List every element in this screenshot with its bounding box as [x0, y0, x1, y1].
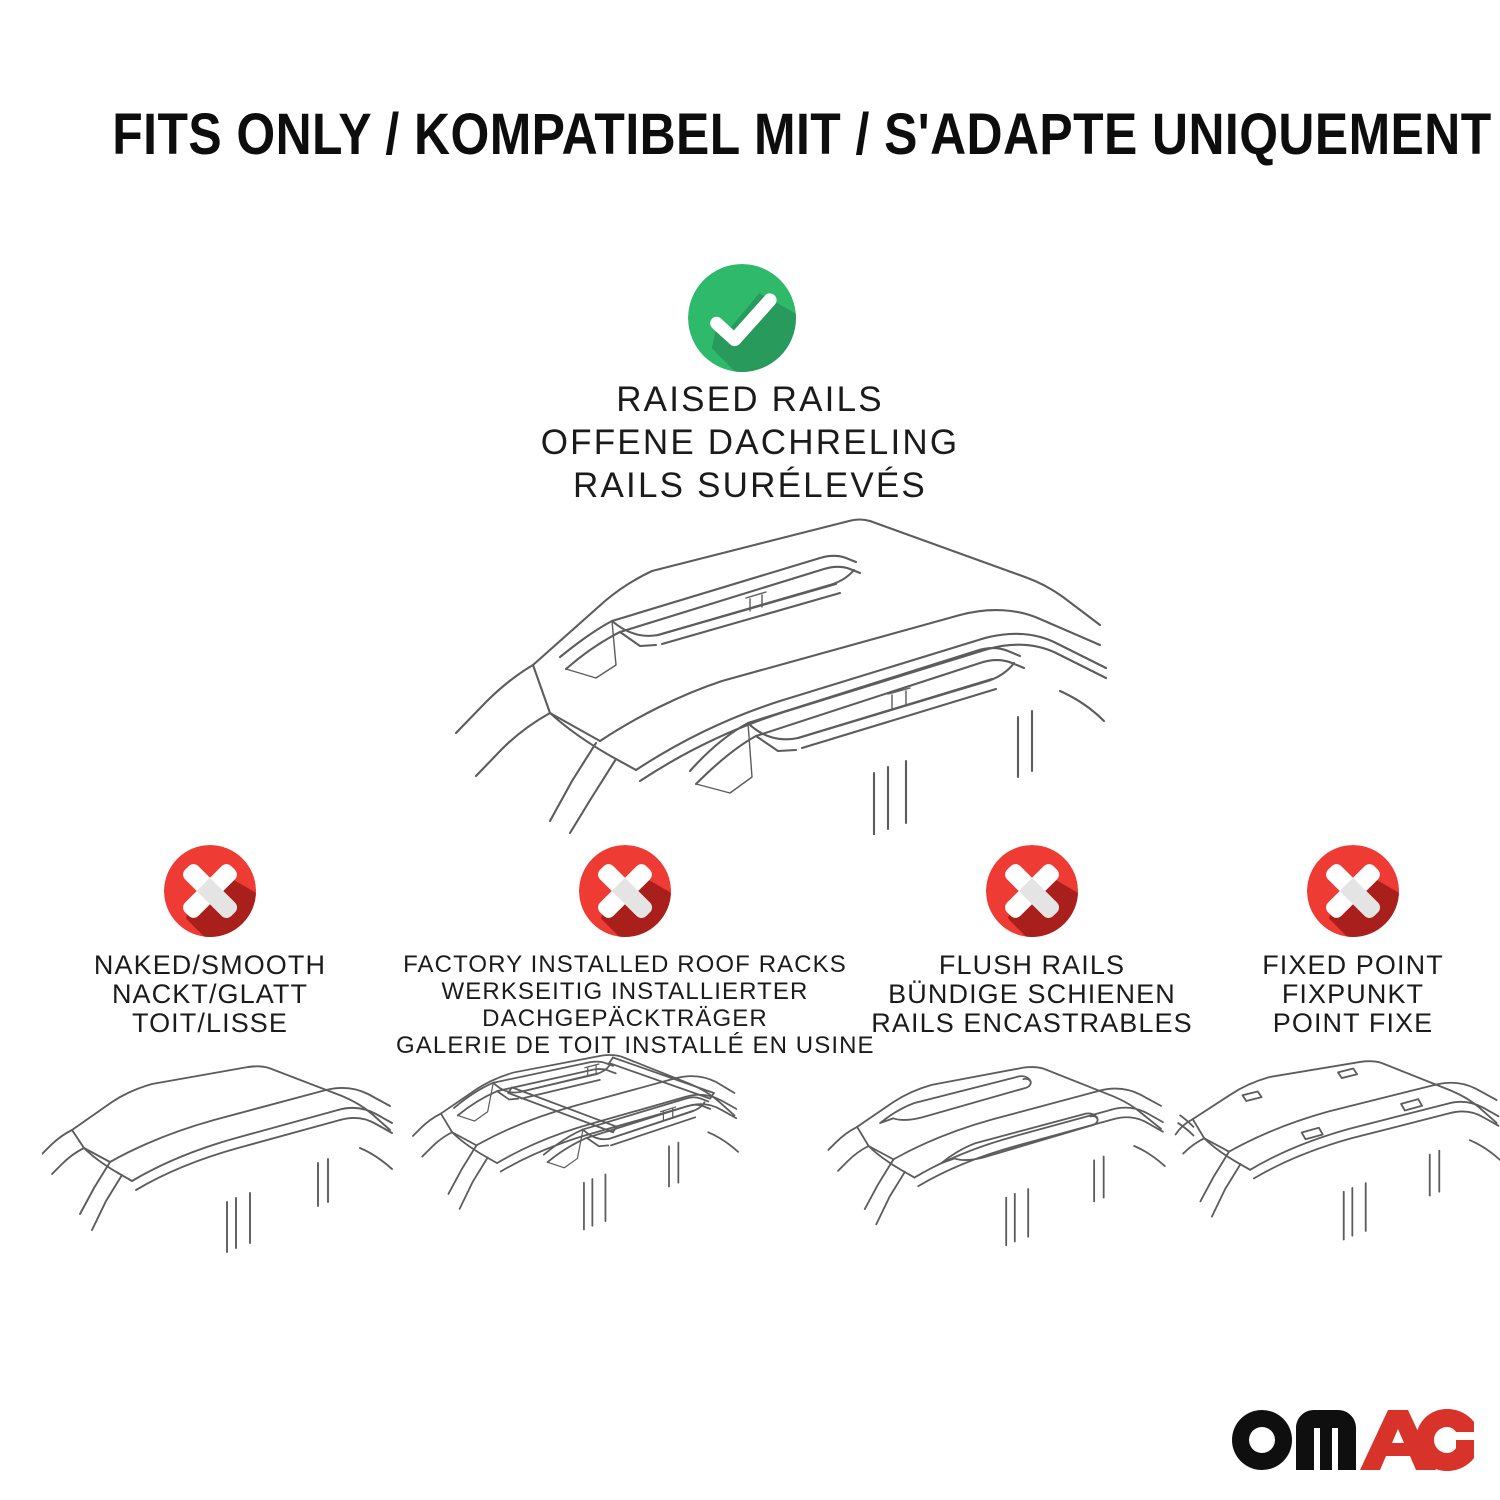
- fixed-point-label-de: FIXPUNKT: [1208, 980, 1498, 1009]
- factory-rack-label-de-1: WERKSEITIG INSTALLIERTER: [396, 978, 854, 1005]
- red-x-icon: [579, 845, 671, 937]
- flush-rails-label-group: FLUSH RAILS BÜNDIGE SCHIENEN RAILS ENCAS…: [862, 951, 1202, 1038]
- car-roof-raised-rails-diagram: [400, 505, 1140, 835]
- fixed-point-label-en: FIXED POINT: [1208, 951, 1498, 980]
- flush-rails-label-fr: RAILS ENCASTRABLES: [862, 1009, 1202, 1038]
- red-x-icon: [164, 845, 256, 937]
- incompatible-column-naked-smooth: NAKED/SMOOTH NACKT/GLATT TOIT/LISSE: [40, 845, 380, 1038]
- raised-rails-label-group: RAISED RAILS OFFENE DACHRELING RAILS SUR…: [400, 378, 1100, 507]
- incompatible-column-factory-rack: FACTORY INSTALLED ROOF RACKS WERKSEITIG …: [396, 845, 854, 1059]
- car-roof-flush-rails-diagram: [818, 1060, 1203, 1275]
- badge-wrap: [862, 845, 1202, 945]
- incompatible-column-flush-rails: FLUSH RAILS BÜNDIGE SCHIENEN RAILS ENCAS…: [862, 845, 1202, 1038]
- factory-rack-label-de-2: DACHGEPÄCKTRÄGER: [396, 1005, 854, 1032]
- red-x-icon: [986, 845, 1078, 937]
- page-title: FITS ONLY / KOMPATIBEL MIT / S'ADAPTE UN…: [112, 104, 1491, 166]
- factory-rack-label-en: FACTORY INSTALLED ROOF RACKS: [396, 951, 854, 978]
- flush-rails-label-en: FLUSH RAILS: [862, 951, 1202, 980]
- raised-rails-label-fr: RAILS SURÉLEVÉS: [400, 464, 1100, 507]
- car-roof-fixed-point-diagram: [1168, 1058, 1500, 1273]
- car-roof-factory-rack-diagram: [400, 1050, 795, 1265]
- incompatible-column-fixed-point: FIXED POINT FIXPUNKT POINT FIXE: [1208, 845, 1498, 1038]
- flush-rails-label-de: BÜNDIGE SCHIENEN: [862, 980, 1202, 1009]
- badge-wrap: [1208, 845, 1498, 945]
- badge-wrap: [40, 845, 380, 945]
- omac-logo: [1228, 1400, 1474, 1476]
- raised-rails-label-en: RAISED RAILS: [400, 378, 1100, 421]
- raised-rails-label-de: OFFENE DACHRELING: [400, 421, 1100, 464]
- naked-smooth-label-en: NAKED/SMOOTH: [40, 951, 380, 980]
- fixed-point-label-fr: POINT FIXE: [1208, 1009, 1498, 1038]
- green-check-icon: [688, 264, 796, 372]
- red-x-icon: [1307, 845, 1399, 937]
- naked-smooth-label-group: NAKED/SMOOTH NACKT/GLATT TOIT/LISSE: [40, 951, 380, 1038]
- car-roof-naked-smooth-diagram: [42, 1062, 397, 1277]
- naked-smooth-label-fr: TOIT/LISSE: [40, 1009, 380, 1038]
- fixed-point-label-group: FIXED POINT FIXPUNKT POINT FIXE: [1208, 951, 1498, 1038]
- page-title-bar: FITS ONLY / KOMPATIBEL MIT / S'ADAPTE UN…: [0, 104, 1500, 166]
- factory-rack-label-group: FACTORY INSTALLED ROOF RACKS WERKSEITIG …: [396, 951, 854, 1059]
- badge-wrap: [396, 845, 854, 945]
- naked-smooth-label-de: NACKT/GLATT: [40, 980, 380, 1009]
